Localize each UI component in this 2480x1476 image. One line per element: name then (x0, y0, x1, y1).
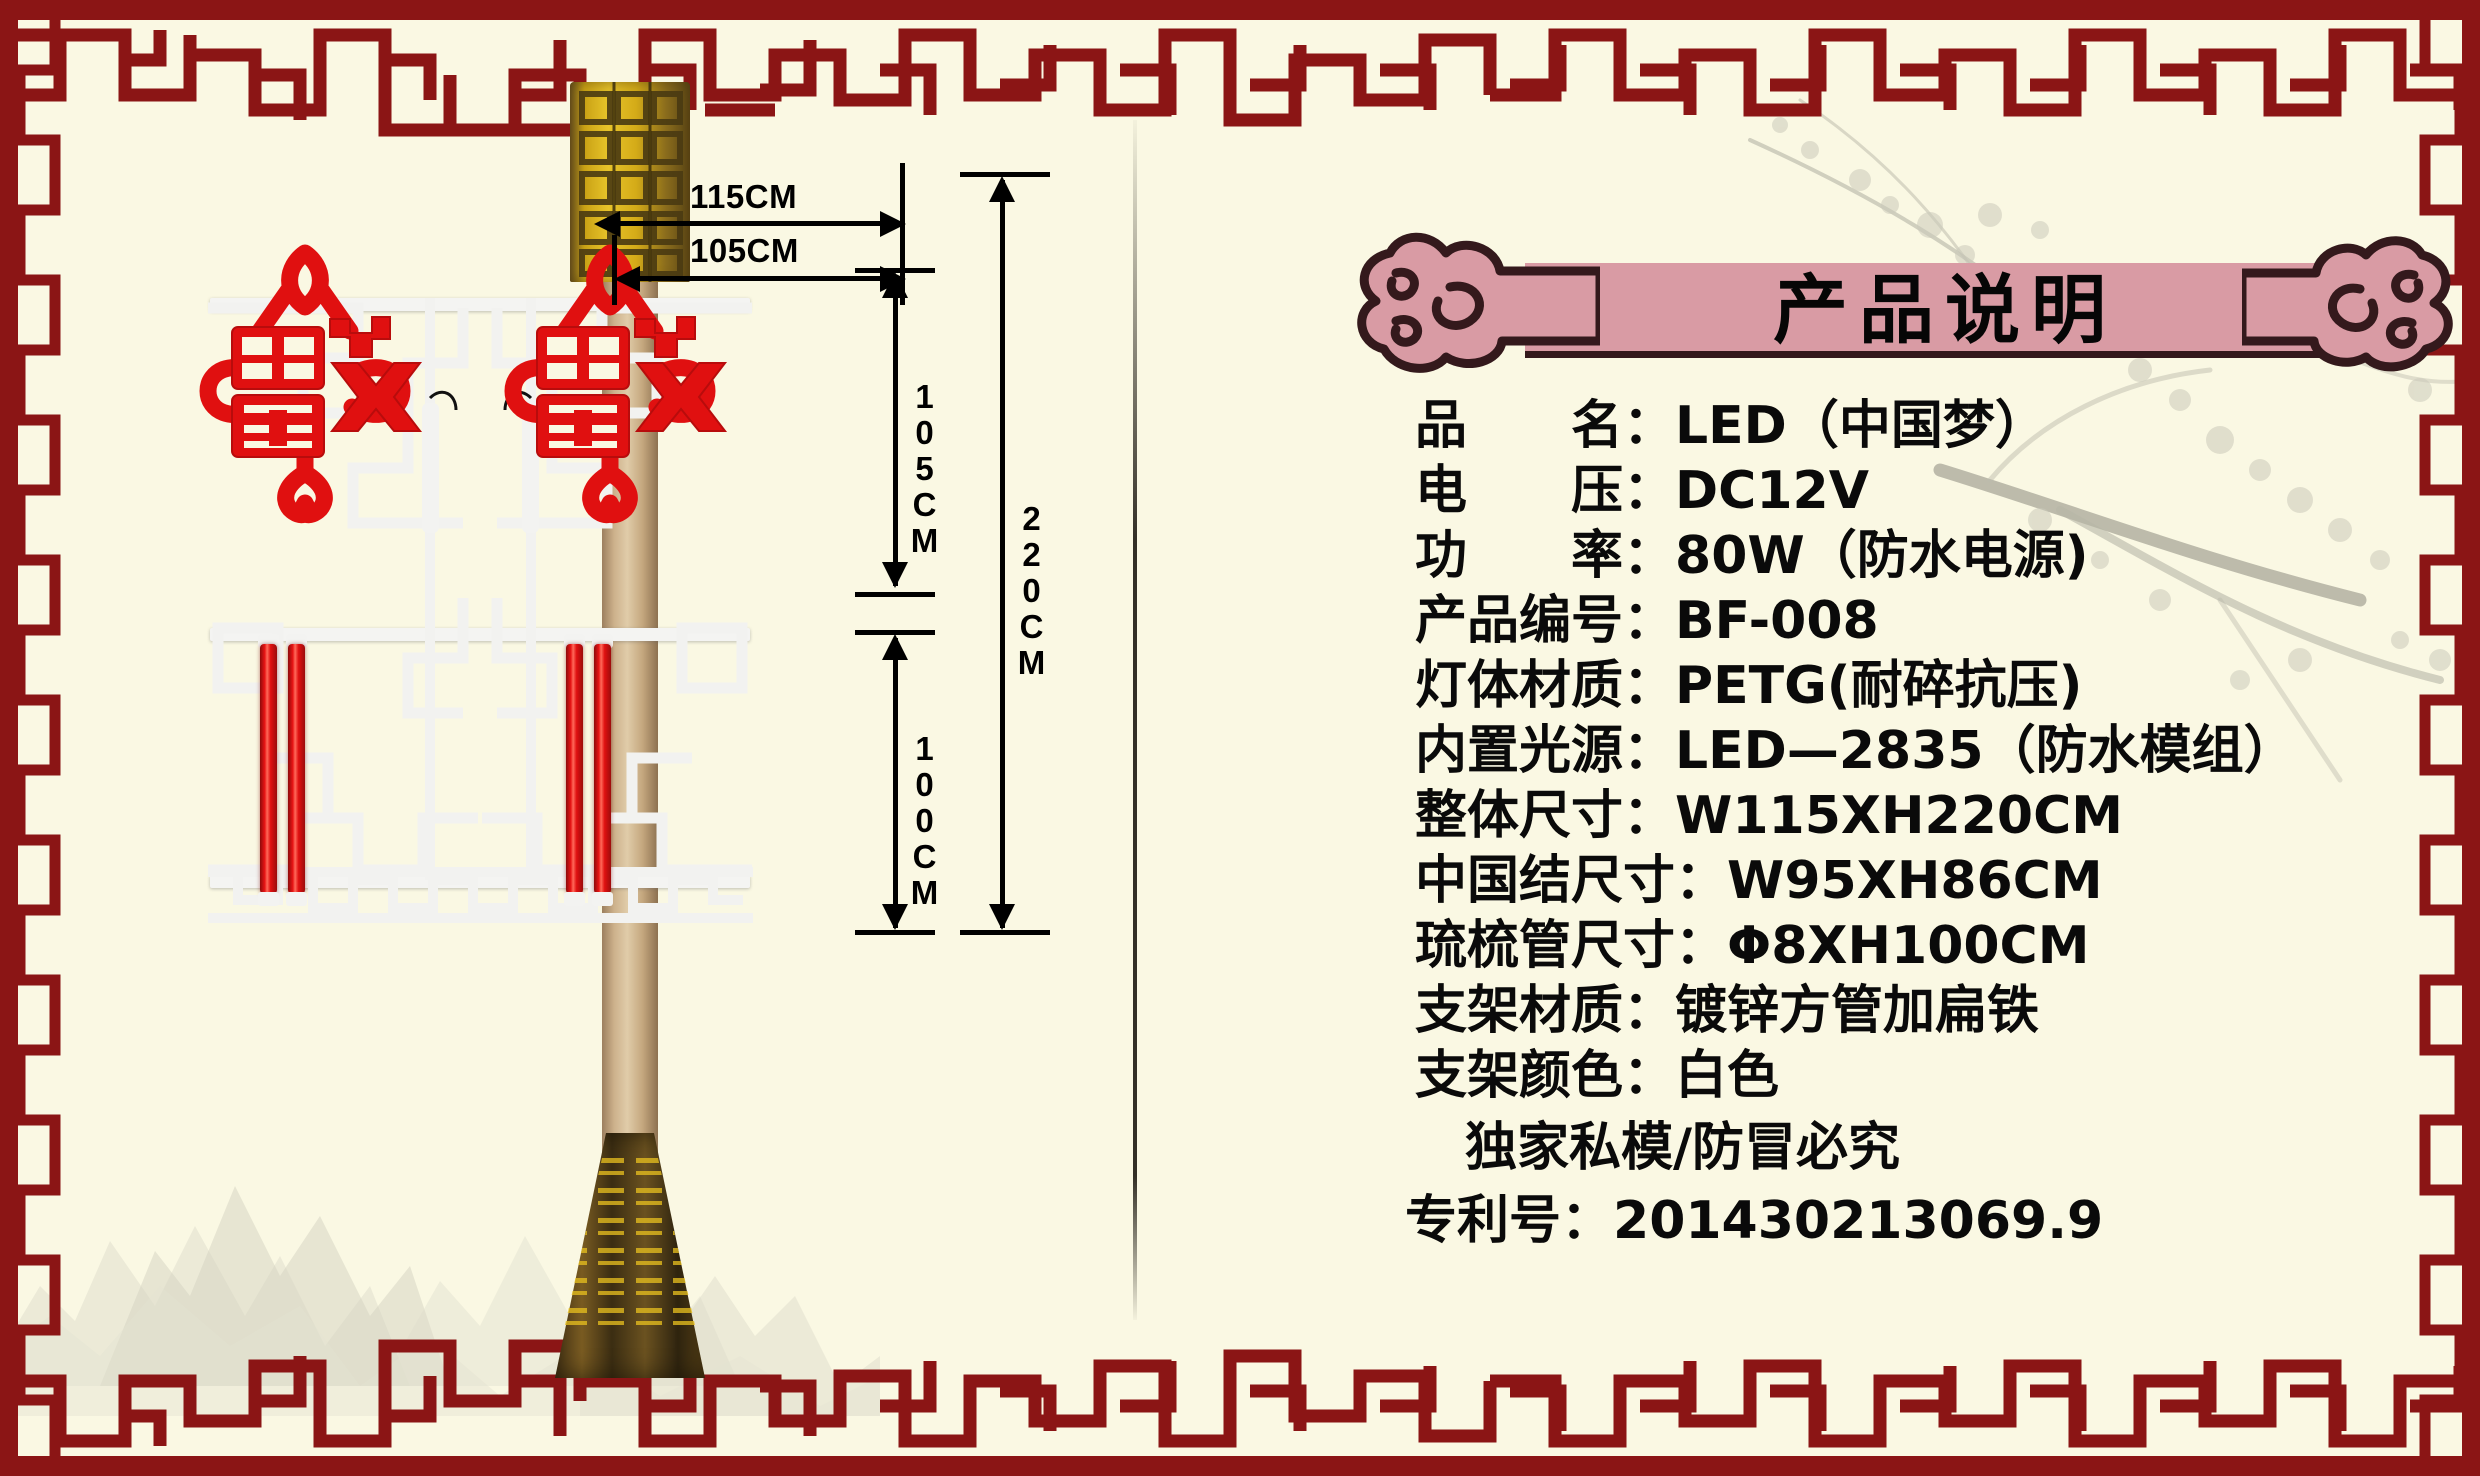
arrow-down-total-height (989, 904, 1015, 930)
spec-value: LED—2835（防水模组） (1675, 725, 2296, 778)
spec-row-bracket-color: 支架颜色： 白色 (1415, 1050, 2475, 1103)
tick-width-inner-left (612, 235, 617, 305)
spec-row-power: 功 率： 80W（防水电源) (1415, 530, 2475, 583)
spec-list: 品 名： LED（中国梦） 电 压： DC12V 功 率： 80W（防水电源) … (1415, 400, 2475, 1115)
title-ribbon: 产品说明 (1350, 225, 2470, 400)
spec-row-name: 品 名： LED（中国梦） (1415, 400, 2475, 453)
spec-row-material: 灯体材质： PETG(耐碎抗压) (1415, 660, 2475, 713)
spec-value: 白色 (1675, 1050, 1779, 1103)
spec-key: 整体尺寸： (1415, 790, 1675, 843)
spec-key: 琉梳管尺寸： (1415, 920, 1727, 973)
product-info-panel: 产品说明 品 名： LED（中国梦） 电 压： DC12V 功 率： 80W（防… (1150, 0, 2480, 1476)
dimension-line-tube-height (893, 638, 898, 928)
spec-value: W115XH220CM (1675, 790, 2123, 843)
chinese-knot-left (180, 235, 430, 545)
border-left-fretwork (0, 0, 80, 1476)
spec-value: 80W（防水电源) (1675, 530, 2089, 583)
tassel-foot-left-1 (258, 892, 279, 906)
spec-key: 功 率： (1415, 530, 1675, 583)
spec-row-voltage: 电 压： DC12V (1415, 465, 2475, 518)
spec-value: W95XH86CM (1727, 855, 2103, 908)
spec-key: 内置光源： (1415, 725, 1675, 778)
dimension-line-knot-height (893, 276, 898, 586)
tick-total-bottom (960, 930, 1050, 935)
spec-row-knot-size: 中国结尺寸： W95XH86CM (1415, 855, 2475, 908)
spec-key: 支架材质： (1415, 985, 1675, 1038)
dimension-label-knot-height: 105CM (905, 378, 943, 558)
tick-knot-bottom (855, 592, 935, 597)
spec-key: 灯体材质： (1415, 660, 1675, 713)
dimension-label-width-outer: 115CM (690, 178, 797, 216)
arrow-up-knot-height (882, 272, 908, 298)
spec-value: LED（中国梦） (1675, 400, 2047, 453)
spec-row-model: 产品编号： BF-008 (1415, 595, 2475, 648)
page-title: 产品说明 (1525, 263, 2365, 358)
tassel-foot-left-2 (286, 892, 307, 906)
product-diagram (150, 40, 1110, 1440)
spec-row-bracket-material: 支架材质： 镀锌方管加扁铁 (1415, 985, 2475, 1038)
spec-value: BF-008 (1675, 595, 1879, 648)
spec-value: PETG(耐碎抗压) (1675, 660, 2082, 713)
exclusive-mold-notice: 独家私模/防冒必究 (1465, 1105, 1900, 1180)
tassel-foot-right-1 (564, 892, 585, 906)
dimension-line-width-inner (620, 276, 900, 281)
dimension-label-width-inner: 105CM (690, 232, 799, 270)
tassel-tube-right-1 (566, 644, 583, 894)
pole-base-glyphs (555, 1140, 705, 1370)
patent-label: 专利号： (1405, 1191, 1613, 1251)
spec-row-light-source: 内置光源： LED—2835（防水模组） (1415, 725, 2475, 778)
tassel-foot-right-2 (592, 892, 613, 906)
spec-key: 产品编号： (1415, 595, 1675, 648)
dimension-label-total-height: 220CM (1012, 500, 1050, 680)
tassel-tube-left-1 (260, 644, 277, 894)
patent-line: 专利号：201430213069.9 (1405, 1178, 2103, 1253)
arrow-left-width-outer (594, 211, 620, 237)
spec-key: 支架颜色： (1415, 1050, 1675, 1103)
patent-number: 201430213069.9 (1613, 1191, 2103, 1251)
vertical-divider (1133, 120, 1137, 1320)
dimension-line-width-outer (600, 221, 900, 226)
arrow-up-tube-height (882, 634, 908, 660)
tassel-tube-right-2 (594, 644, 611, 894)
spec-row-tube-size: 琉梳管尺寸： Φ8XH100CM (1415, 920, 2475, 973)
spec-key: 品 名： (1415, 400, 1675, 453)
arrow-up-total-height (989, 176, 1015, 202)
chinese-knot-right (485, 235, 735, 545)
arrow-down-knot-height (882, 562, 908, 588)
spec-key: 电 压： (1415, 465, 1675, 518)
spec-value: 镀锌方管加扁铁 (1675, 985, 2039, 1038)
dimension-label-tube-height: 100CM (905, 730, 943, 910)
arrow-left-width-inner (614, 266, 640, 292)
spec-key: 中国结尺寸： (1415, 855, 1727, 908)
poster-canvas: 115CM 105CM 105CM 100CM 220CM (0, 0, 2480, 1476)
spec-value: Φ8XH100CM (1727, 920, 2089, 973)
dimension-line-total-height (1000, 180, 1005, 928)
tassel-tube-left-2 (288, 644, 305, 894)
spec-row-overall-size: 整体尺寸： W115XH220CM (1415, 790, 2475, 843)
tick-tube-bottom (855, 930, 935, 935)
spec-value: DC12V (1675, 465, 1869, 518)
